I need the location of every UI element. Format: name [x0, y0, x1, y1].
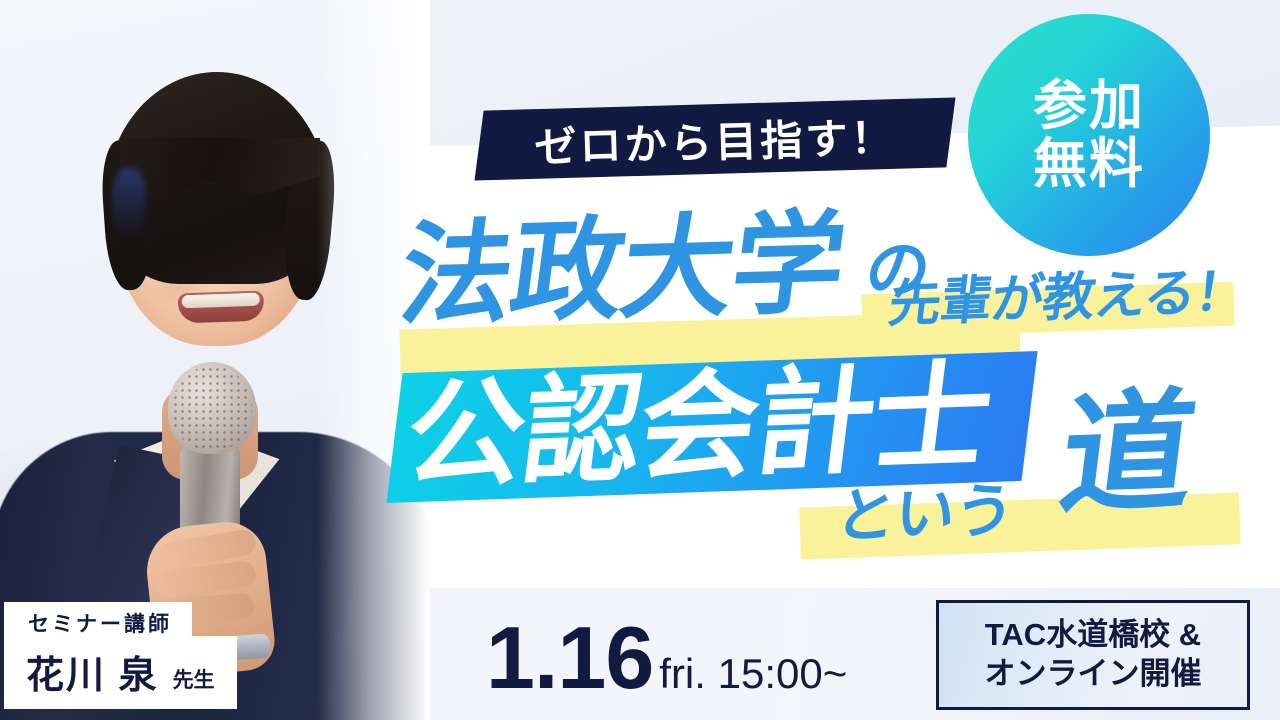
title-university: 法政大学: [394, 208, 850, 332]
photo-hair-highlight: [112, 168, 146, 238]
schedule-day-time: fri. 15:00~: [659, 653, 847, 695]
seminar-promo-banner: 参加 無料 ゼロから目指す！ 法政大学 の 先輩が教える！ 公認会計士 という …: [0, 0, 1280, 720]
catch-ribbon: ゼロから目指す！: [474, 97, 955, 180]
free-participation-badge: 参加 無料: [968, 14, 1210, 256]
speaker-role-label: セミナー講師: [28, 608, 172, 638]
photo-teeth: [182, 293, 260, 309]
photo-mouth: [178, 291, 265, 324]
speaker-name: 花川 泉: [26, 644, 159, 699]
venue-box: TAC水道橋校 & オンライン開催: [936, 600, 1250, 710]
title-qualification: 公認会計士: [399, 358, 996, 496]
title-michi: 道: [1054, 386, 1203, 523]
badge-line-2: 無料: [1033, 135, 1145, 193]
photo-microphone-mesh: [172, 366, 252, 450]
schedule-date-row: 1.16 fri. 15:00~: [486, 614, 847, 702]
speaker-name-box: 花川 泉 先生: [4, 636, 237, 709]
schedule-date: 1.16: [486, 614, 653, 702]
title-toiu: という: [832, 481, 1017, 547]
venue-line-1: TAC水道橋校 &: [985, 617, 1201, 654]
speaker-honorific: 先生: [173, 664, 215, 699]
title-senpai-phrase: 先輩が教える！: [886, 266, 1250, 330]
badge-line-1: 参加: [1033, 77, 1145, 135]
venue-line-2: オンライン開催: [985, 656, 1202, 693]
catch-ribbon-text: ゼロから目指す！: [533, 104, 896, 175]
